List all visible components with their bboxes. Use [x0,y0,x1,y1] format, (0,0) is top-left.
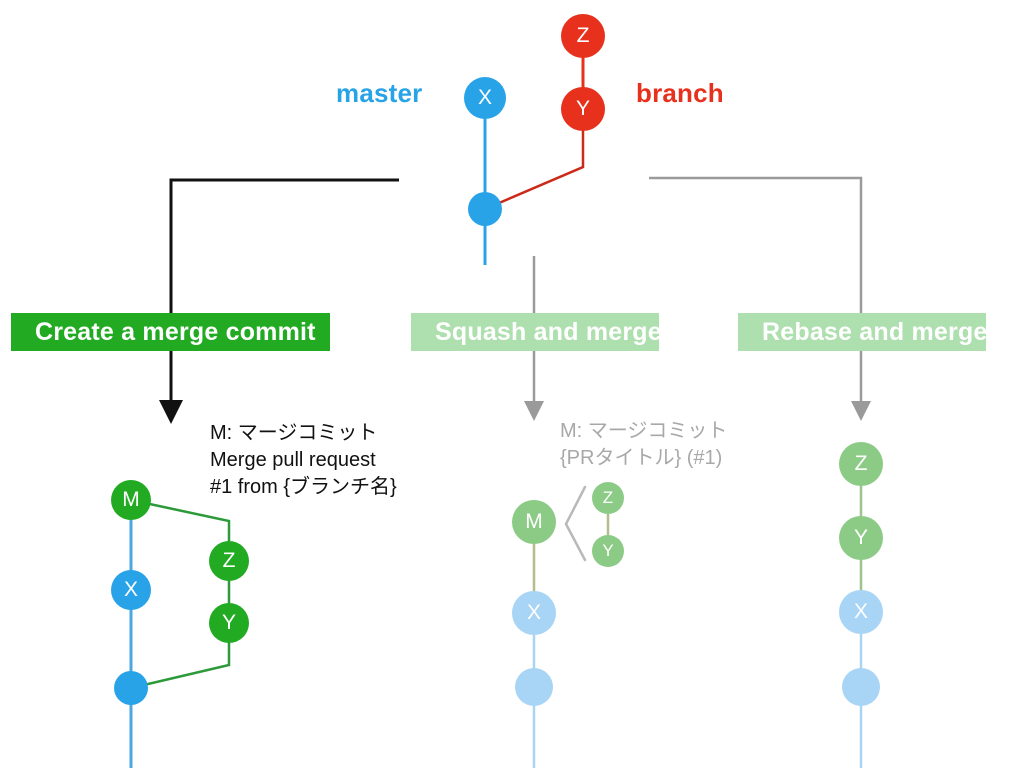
commit-node-l-x [111,570,151,610]
strategy-bar-squash-and-merge[interactable]: Squash and merge [411,313,659,351]
strategy-bar-rebase-and-merge[interactable]: Rebase and merge [738,313,986,351]
commit-node-r-x [839,590,883,634]
connector-merge-commit [171,180,399,412]
commit-node-m-base [515,668,553,706]
commit-node-r-z [839,442,883,486]
commit-node-m-y [592,535,624,567]
commit-node-l-m [111,480,151,520]
commit-node-l-y [209,603,249,643]
commit-node-top-y [561,87,605,131]
diagram-graphics [0,0,1024,768]
commit-node-m-m [512,500,556,544]
commit-node-l-z [209,541,249,581]
commit-node-m-x [512,591,556,635]
commit-node-r-base [842,668,880,706]
commit-node-l-base [114,671,148,705]
squash-chevron-icon [566,487,585,560]
master-branch-label: master [336,78,422,109]
commit-node-r-y [839,516,883,560]
commit-node-top-base [468,192,502,226]
top-graph-edges [485,36,583,265]
commit-node-m-z [592,482,624,514]
feature-branch-label: branch [636,78,724,109]
commit-node-top-z [561,14,605,58]
caption-squash-merge: M: マージコミット {PRタイトル} (#1) [560,418,727,472]
caption-merge-commit: M: マージコミット Merge pull request #1 from {ブ… [210,420,397,501]
commit-node-top-x [464,77,506,119]
diagram-canvas: master branch Z Y X Create a merge commi… [0,0,1024,768]
connector-rebase-merge [649,178,861,411]
strategy-bar-create-merge-commit[interactable]: Create a merge commit [11,313,330,351]
